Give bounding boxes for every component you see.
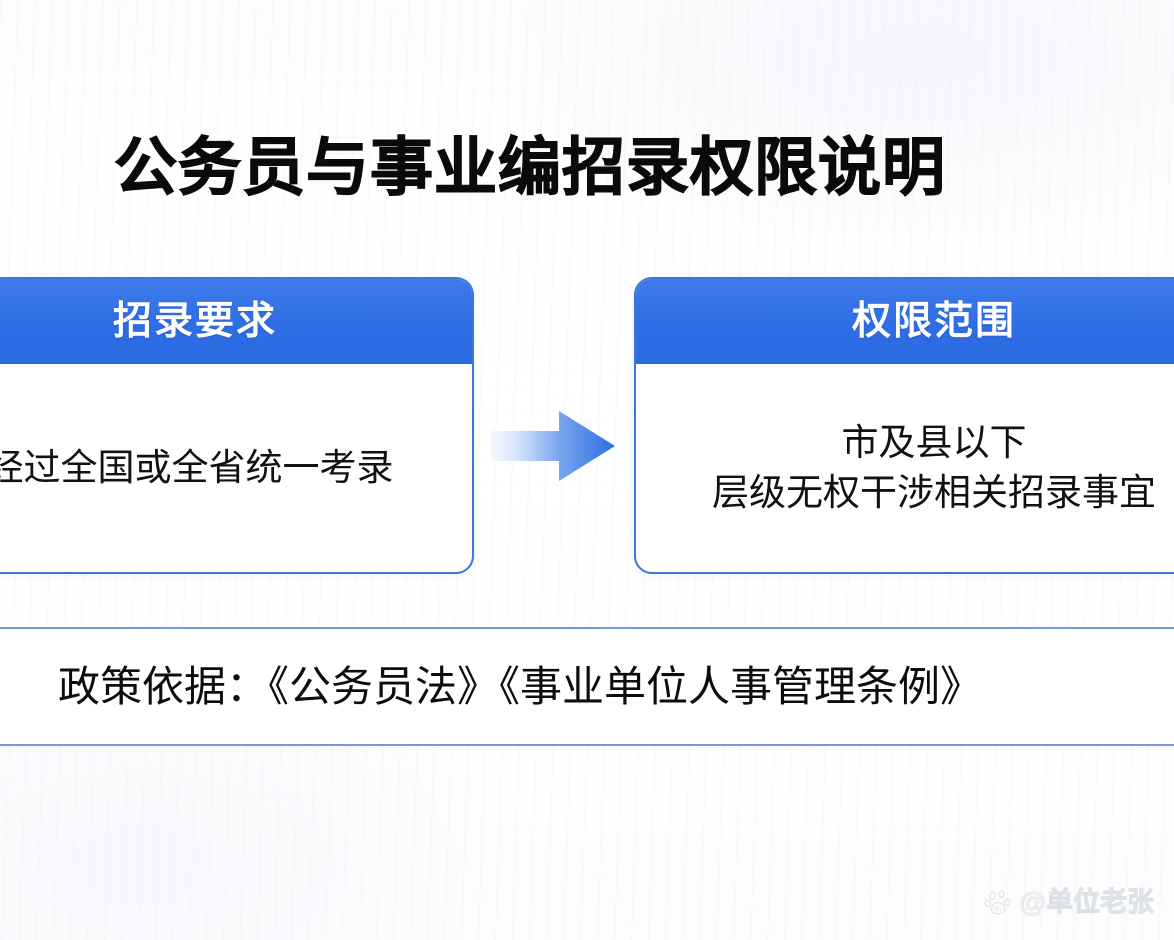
card-body-recruitment-requirements: 经过全国或全省统一考录 xyxy=(0,364,472,572)
page-title: 公务员与事业编招录权限说明 xyxy=(114,129,946,207)
card-body-authority-scope: 市及县以下 层级无权干涉相关招录事宜 xyxy=(636,364,1174,572)
card-header-recruitment-requirements: 招录要求 xyxy=(0,279,472,364)
policy-basis-bar: 政策依据：《公务员法》《事业单位人事管理条例》 xyxy=(0,627,1174,746)
arrow-right-icon xyxy=(491,404,615,488)
card-recruitment-requirements: 招录要求 经过全国或全省统一考录 xyxy=(0,277,474,574)
card-body-text: 市及县以下 层级无权干涉相关招录事宜 xyxy=(712,418,1156,518)
watermark-text: @单位老张 xyxy=(1020,887,1154,917)
card-body-line: 市及县以下 xyxy=(712,418,1156,468)
card-body-line: 经过全国或全省统一考录 xyxy=(0,443,394,493)
watermark: du @单位老张 xyxy=(984,887,1154,917)
svg-text:du: du xyxy=(994,906,1002,913)
card-header-authority-scope: 权限范围 xyxy=(636,279,1174,364)
card-body-text: 经过全国或全省统一考录 xyxy=(0,443,394,493)
slide-canvas: 公务员与事业编招录权限说明 招录要求 经过全国或全省统一考录 xyxy=(0,0,1174,940)
policy-basis-text: 政策依据：《公务员法》《事业单位人事管理条例》 xyxy=(58,659,982,715)
baidu-paw-icon: du xyxy=(984,887,1014,917)
card-body-line: 层级无权干涉相关招录事宜 xyxy=(712,468,1156,518)
card-header-label: 招录要求 xyxy=(113,299,277,345)
card-header-label: 权限范围 xyxy=(852,299,1016,345)
card-authority-scope: 权限范围 市及县以下 层级无权干涉相关招录事宜 xyxy=(634,277,1174,574)
